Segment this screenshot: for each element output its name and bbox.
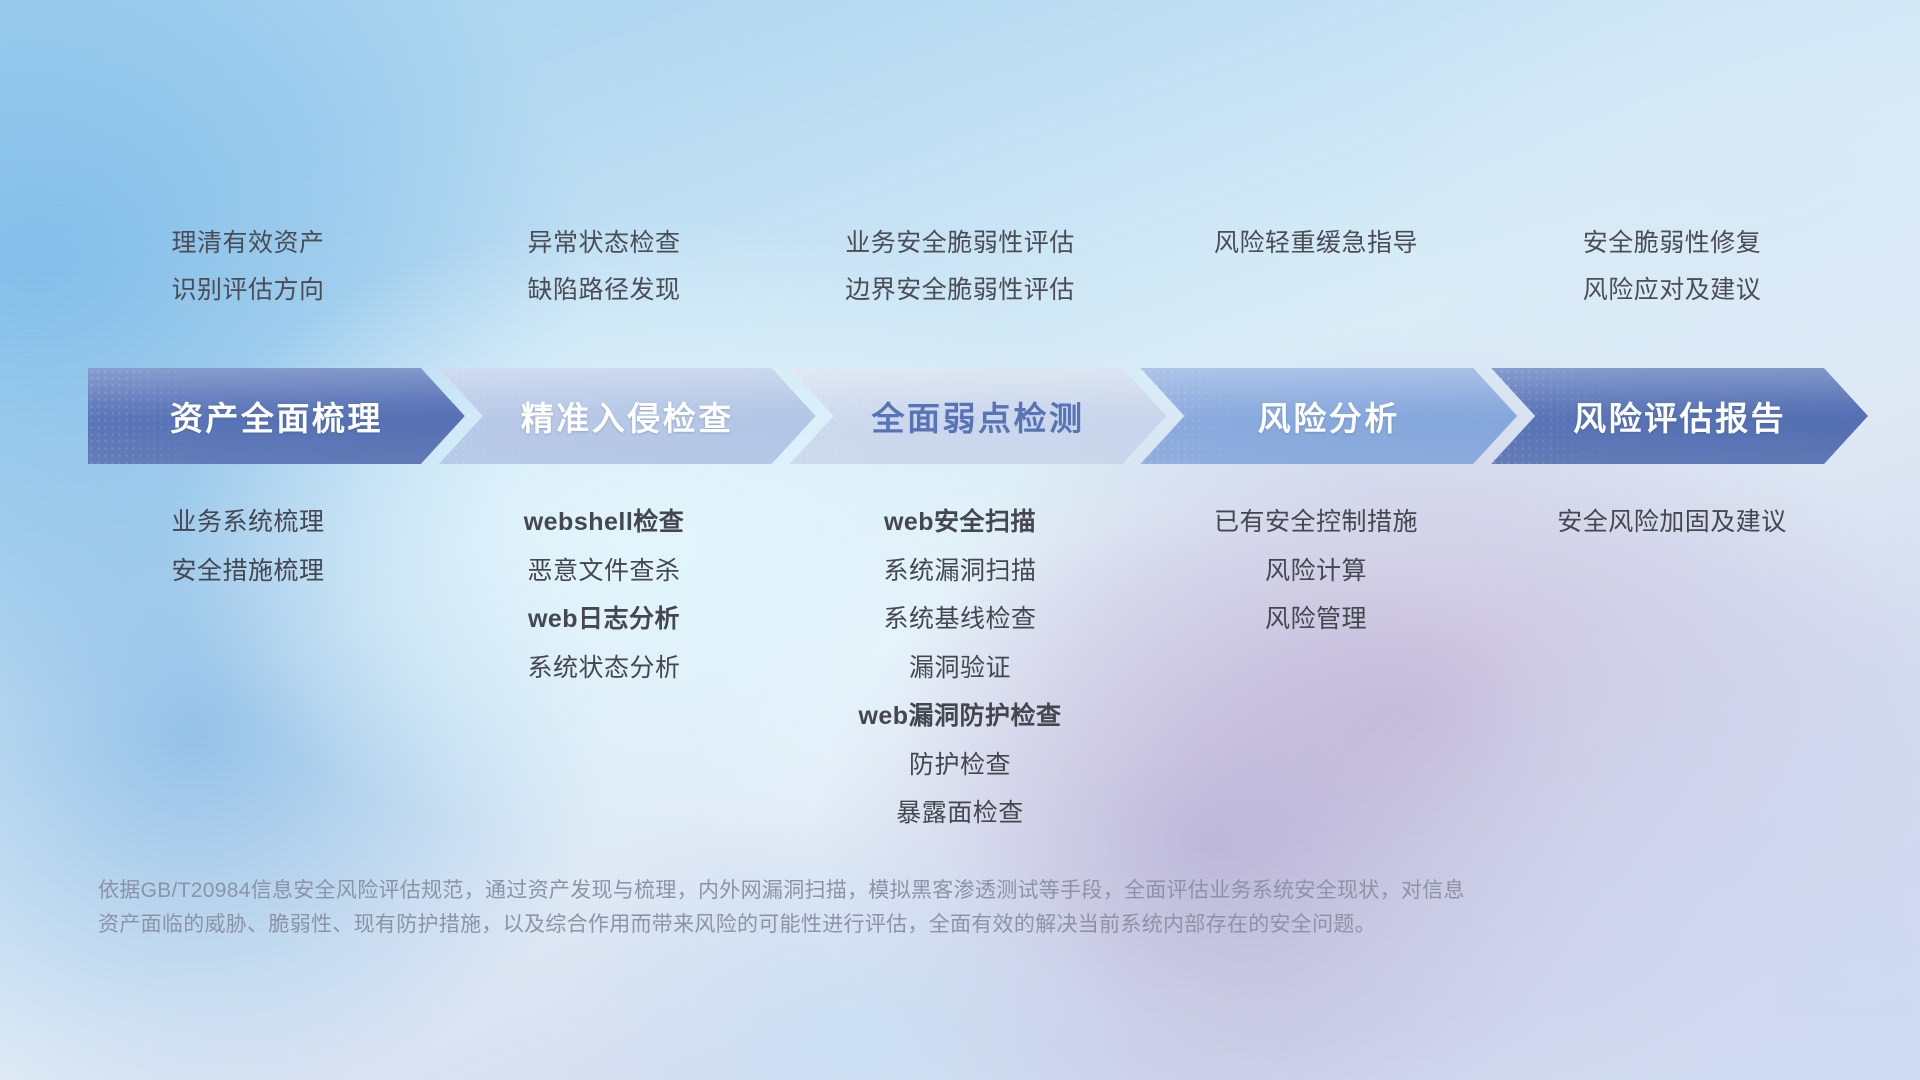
task-item: 风险计算 (1265, 555, 1367, 588)
chevron-risk-analysis[interactable]: 风险分析 (1140, 368, 1517, 464)
task-item: webshell检查 (524, 506, 685, 539)
outcome-item: 风险轻重缓急指导 (1214, 228, 1418, 259)
outcome-item: 识别评估方向 (171, 275, 324, 306)
task-item: 系统基线检查 (883, 603, 1036, 636)
tasks-column-asset-inventory: 业务系统梳理安全措施梳理 (70, 506, 426, 587)
task-item: 防护检查 (909, 749, 1011, 782)
chevron-label: 资产全面梳理 (170, 392, 383, 440)
outcome-item: 异常状态检查 (527, 228, 680, 259)
task-item: web安全扫描 (884, 506, 1036, 539)
outcomes-column-risk-analysis: 风险轻重缓急指导 (1138, 228, 1494, 307)
task-item: 漏洞验证 (909, 652, 1011, 685)
tasks-column-risk-report: 安全风险加固及建议 (1494, 506, 1850, 539)
task-item: 已有安全控制措施 (1214, 506, 1418, 539)
chevron-label: 全面弱点检测 (871, 392, 1084, 440)
footer-description: 依据GB/T20984信息安全风险评估规范，通过资产发现与梳理，内外网漏洞扫描，… (98, 874, 1618, 942)
chevron-risk-report[interactable]: 风险评估报告 (1491, 368, 1868, 464)
task-item: 系统状态分析 (527, 652, 680, 685)
chevron-weakness-detection[interactable]: 全面弱点检测 (790, 368, 1167, 464)
tasks-column-risk-analysis: 已有安全控制措施风险计算风险管理 (1138, 506, 1494, 636)
outcome-item: 缺陷路径发现 (527, 275, 680, 306)
chevron-label: 风险分析 (1258, 392, 1400, 440)
outcomes-column-risk-report: 安全脆弱性修复风险应对及建议 (1494, 228, 1850, 307)
tasks-column-intrusion-check: webshell检查恶意文件查杀web日志分析系统状态分析 (426, 506, 782, 684)
task-item: web日志分析 (528, 603, 680, 636)
task-item: 系统漏洞扫描 (883, 555, 1036, 588)
slide-canvas: 理清有效资产识别评估方向异常状态检查缺陷路径发现业务安全脆弱性评估边界安全脆弱性… (0, 0, 1920, 1080)
task-item: 安全风险加固及建议 (1557, 506, 1787, 539)
task-item: web漏洞防护检查 (858, 700, 1061, 733)
process-chevron-banner: 资产全面梳理精准入侵检查全面弱点检测风险分析风险评估报告 (88, 368, 1868, 464)
task-item: 恶意文件查杀 (527, 555, 680, 588)
task-item: 暴露面检查 (896, 797, 1024, 830)
outcomes-column-intrusion-check: 异常状态检查缺陷路径发现 (426, 228, 782, 307)
outcome-item: 边界安全脆弱性评估 (845, 275, 1075, 306)
footer-line-1: 依据GB/T20984信息安全风险评估规范，通过资产发现与梳理，内外网漏洞扫描，… (98, 874, 1618, 908)
chevron-intrusion-check[interactable]: 精准入侵检查 (439, 368, 816, 464)
chevron-asset-inventory[interactable]: 资产全面梳理 (88, 368, 465, 464)
outcome-item: 理清有效资产 (171, 228, 324, 259)
outcomes-column-weakness-detection: 业务安全脆弱性评估边界安全脆弱性评估 (782, 228, 1138, 307)
stage-outcomes-row: 理清有效资产识别评估方向异常状态检查缺陷路径发现业务安全脆弱性评估边界安全脆弱性… (0, 228, 1920, 307)
stage-tasks-row: 业务系统梳理安全措施梳理webshell检查恶意文件查杀web日志分析系统状态分… (0, 506, 1920, 830)
chevron-label: 风险评估报告 (1573, 392, 1786, 440)
outcome-item: 业务安全脆弱性评估 (845, 228, 1075, 259)
task-item: 安全措施梳理 (171, 555, 324, 588)
outcome-item: 安全脆弱性修复 (1583, 228, 1762, 259)
task-item: 风险管理 (1265, 603, 1367, 636)
tasks-column-weakness-detection: web安全扫描系统漏洞扫描系统基线检查漏洞验证web漏洞防护检查防护检查暴露面检… (782, 506, 1138, 830)
chevron-label: 精准入侵检查 (521, 392, 734, 440)
footer-line-2: 资产面临的威胁、脆弱性、现有防护措施，以及综合作用而带来风险的可能性进行评估，全… (98, 908, 1618, 942)
task-item: 业务系统梳理 (171, 506, 324, 539)
outcome-item: 风险应对及建议 (1583, 275, 1762, 306)
outcomes-column-asset-inventory: 理清有效资产识别评估方向 (70, 228, 426, 307)
